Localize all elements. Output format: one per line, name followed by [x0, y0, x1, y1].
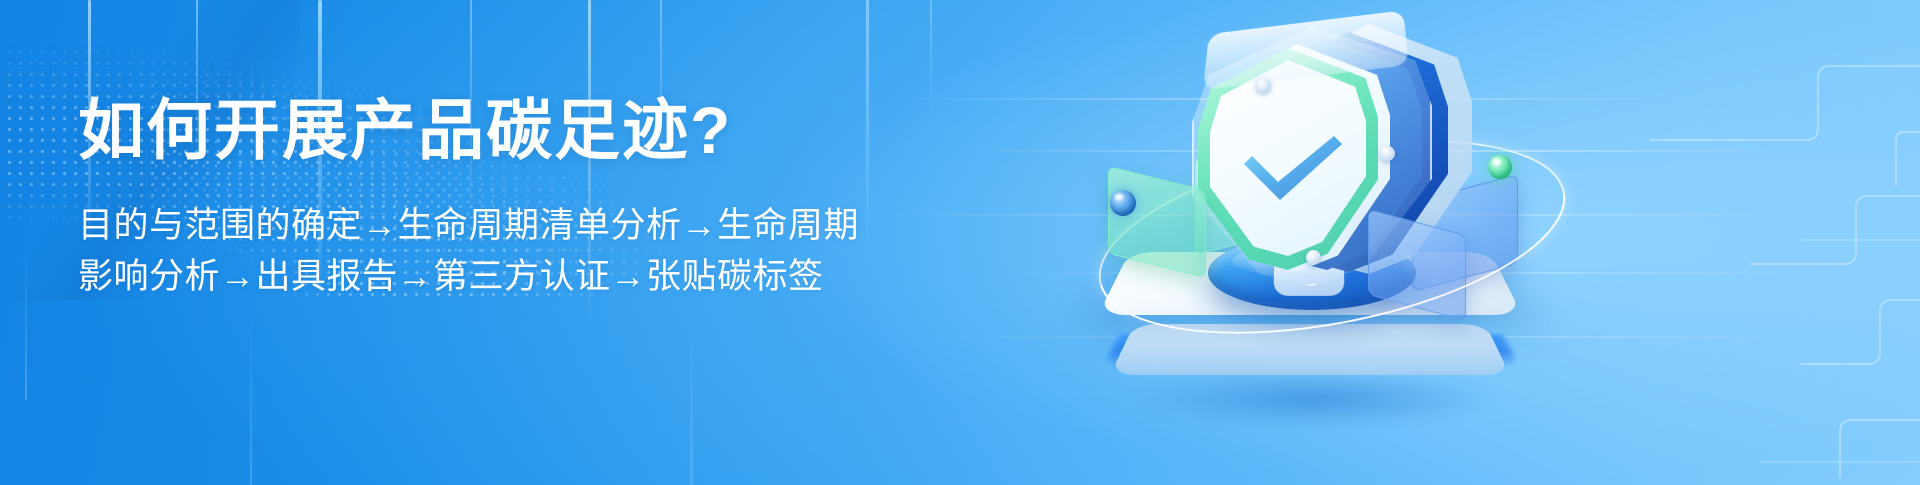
- carbon-footprint-banner: 如何开展产品碳足迹? 目的与范围的确定→生命周期清单分析→生命周期 影响分析→出…: [0, 0, 1920, 485]
- shield-rivet: [1380, 146, 1395, 161]
- subtitle-block: 目的与范围的确定→生命周期清单分析→生命周期 影响分析→出具报告→第三方认证→张…: [78, 200, 898, 302]
- subtitle-line-1: 目的与范围的确定→生命周期清单分析→生命周期: [78, 200, 898, 251]
- light-streak: [930, 0, 932, 120]
- pedestal-base: [1110, 324, 1510, 375]
- light-streak: [690, 320, 693, 485]
- shield-illustration: [1060, 0, 1620, 485]
- banner-copy: 如何开展产品碳足迹? 目的与范围的确定→生命周期清单分析→生命周期 影响分析→出…: [78, 96, 898, 302]
- blue-sphere: [1110, 190, 1136, 216]
- shield-rivet: [1256, 78, 1271, 93]
- subtitle-line-2: 影响分析→出具报告→第三方认证→张贴碳标签: [78, 251, 898, 302]
- light-streak: [250, 300, 252, 485]
- page-title: 如何开展产品碳足迹?: [78, 96, 898, 166]
- light-streak: [25, 250, 27, 400]
- green-sphere: [1488, 155, 1512, 179]
